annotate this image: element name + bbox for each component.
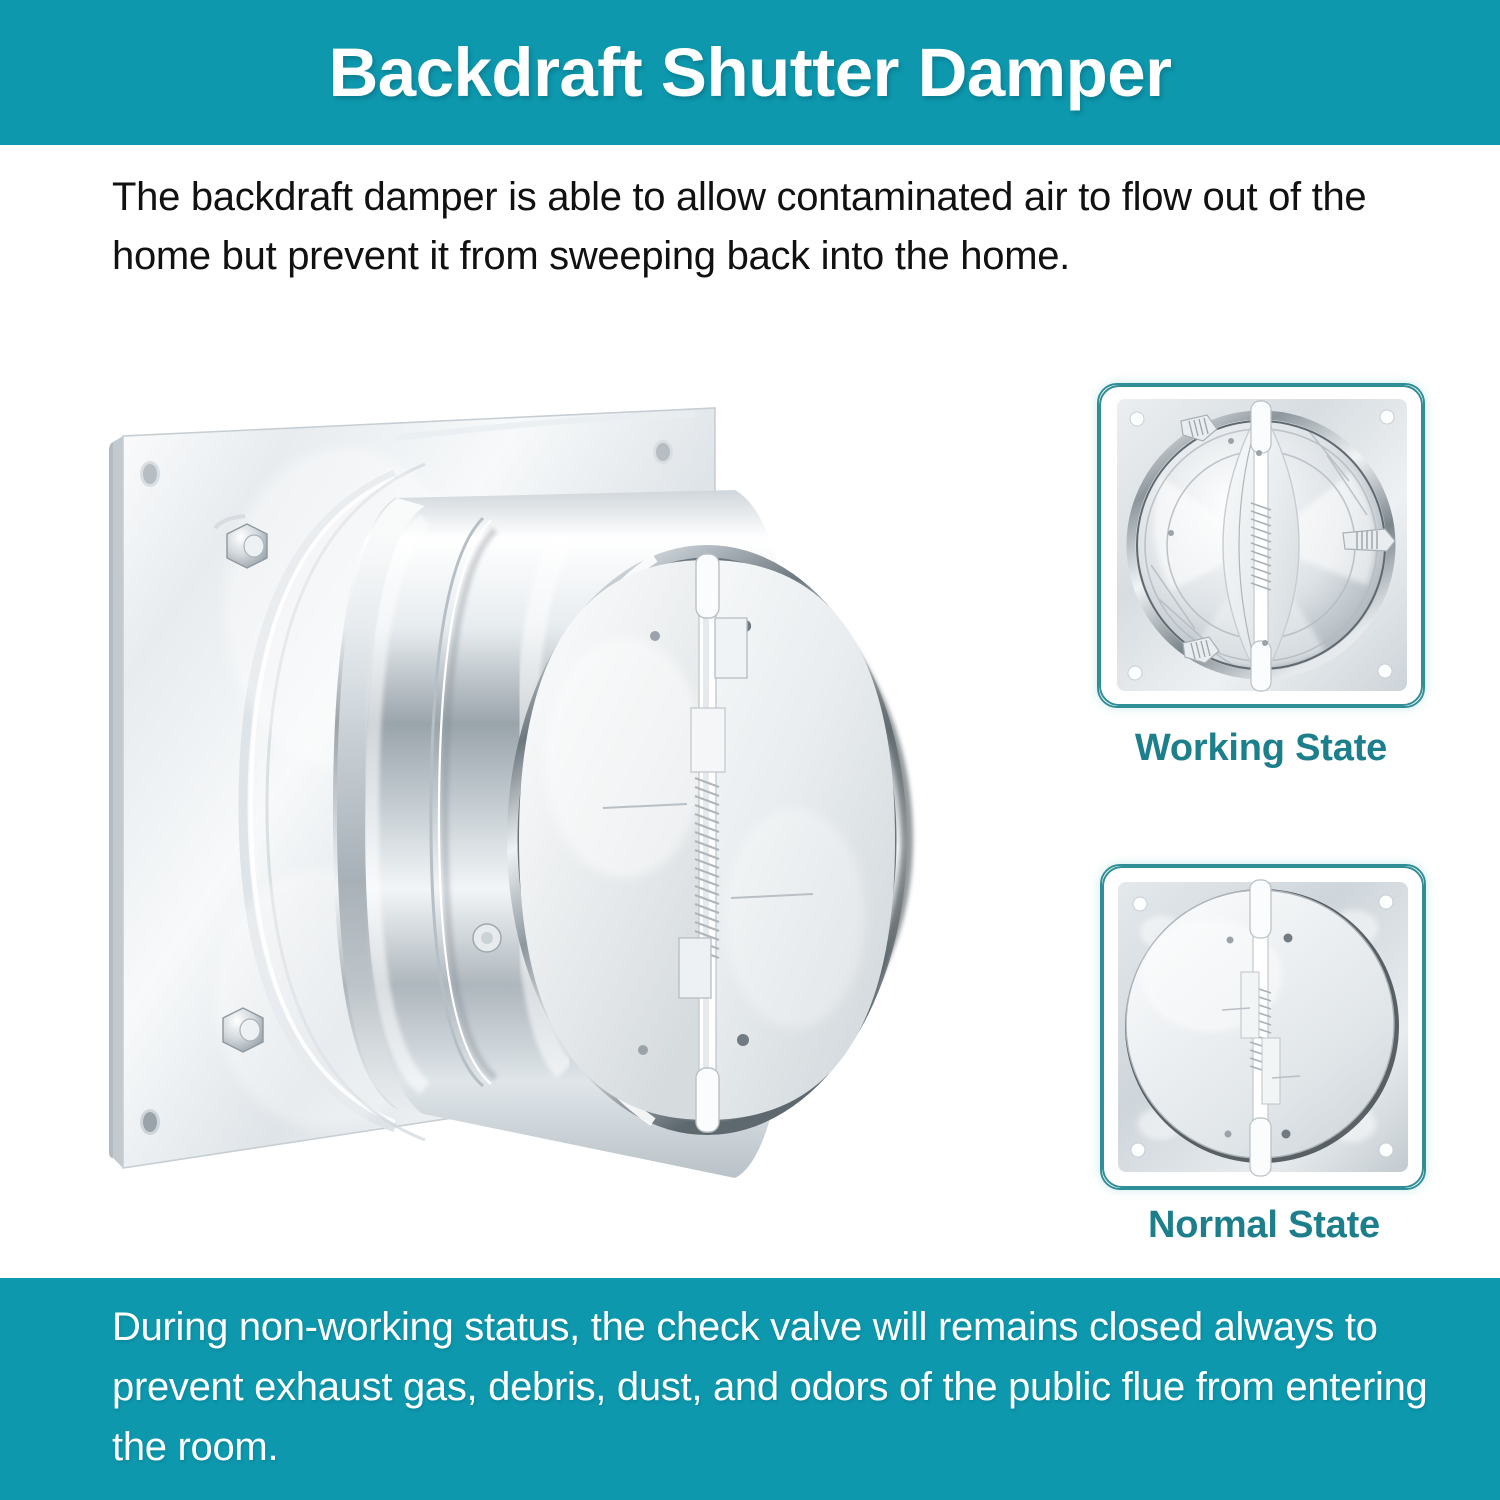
damper-open-flaps-photo (1099, 385, 1423, 706)
footer-paragraph: During non-working status, the check val… (112, 1297, 1442, 1477)
page-title: Backdraft Shutter Damper (328, 33, 1171, 112)
title-band: Backdraft Shutter Damper (0, 0, 1500, 145)
backdraft-damper-product-photo (95, 378, 1055, 1208)
caption-normal-state: Normal State (1100, 1204, 1428, 1247)
hero-product-image (95, 378, 1055, 1208)
hex-bolt-bottom (223, 1008, 263, 1052)
intro-paragraph: The backdraft damper is able to allow co… (112, 168, 1442, 286)
infographic-page: Backdraft Shutter Damper The backdraft d… (0, 0, 1500, 1500)
caption-working-state: Working State (1097, 727, 1425, 770)
inset-working-state (1097, 383, 1425, 708)
inset-normal-state (1100, 864, 1426, 1190)
spring-clip-right (1343, 529, 1395, 551)
damper-closed-disc-photo (1102, 866, 1424, 1188)
